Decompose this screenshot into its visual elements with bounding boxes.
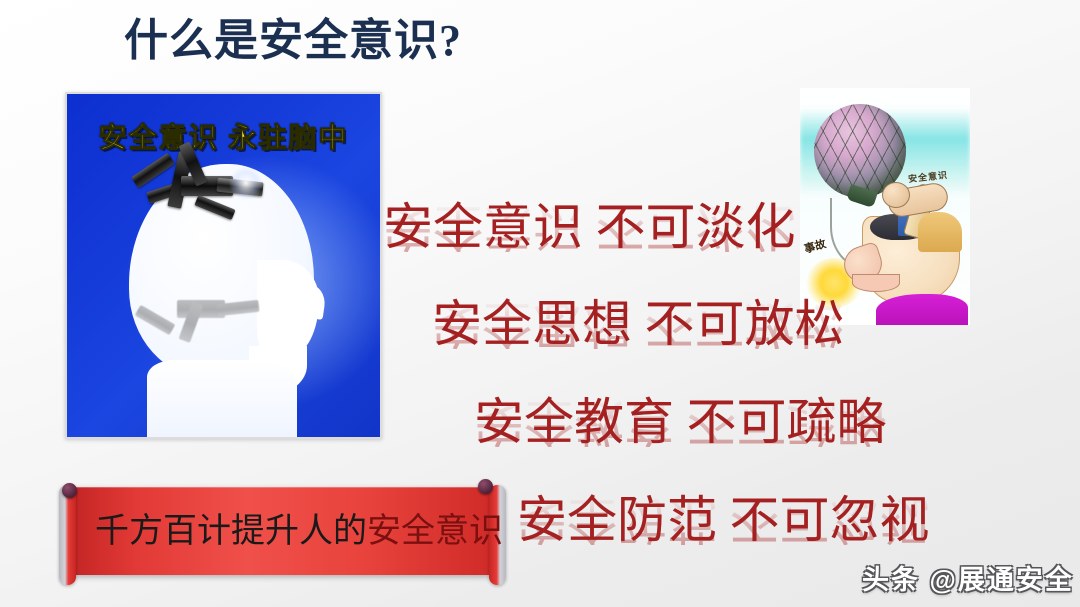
cartoon-shirt xyxy=(876,294,968,325)
slogan-line-2: 安全思想 不可放松 安全思想 不可放松 xyxy=(432,299,845,349)
slogan-line-4-text: 安全防范 不可忽视 xyxy=(517,492,930,548)
machinery-reflection xyxy=(125,258,265,344)
pushpin-icon-left xyxy=(62,483,77,498)
cartoon-hair xyxy=(918,212,962,252)
cartoon-fist xyxy=(882,182,910,208)
pushpin-icon-right xyxy=(478,479,493,494)
poster-image-safety-awareness: 安全意识 永驻脑中 xyxy=(65,92,382,439)
machinery-part xyxy=(131,153,175,188)
slogan-line-3-text: 安全教育 不可疏略 xyxy=(474,394,887,450)
banner-text-plain: 千方百计提升人的 xyxy=(95,513,367,550)
slogan-line-4: 安全防范 不可忽视 安全防范 不可忽视 xyxy=(517,495,930,545)
accident-label: 事故 xyxy=(802,235,828,256)
banner-text-accent: 安全意识 xyxy=(367,513,503,550)
machinery-part xyxy=(194,195,235,220)
red-banner: 千方百计提升人的安全意识 xyxy=(67,487,498,575)
slogan-line-1: 安全意识 不可淡化 安全意识 不可淡化 xyxy=(383,202,796,252)
slide-canvas: 什么是安全意识? 安全意识 永驻脑中 xyxy=(0,0,1080,607)
page-title: 什么是安全意识? xyxy=(124,16,462,65)
cartoon-image-awareness: 事故 安全意识 xyxy=(800,88,970,325)
cartoon-mouth xyxy=(852,274,900,292)
slogan-line-1-text: 安全意识 不可淡化 xyxy=(383,199,796,255)
neck-shape xyxy=(147,360,297,439)
banner-roll-left xyxy=(59,485,76,585)
spark-glow-icon xyxy=(229,166,263,200)
machinery-icon xyxy=(125,142,265,262)
banner-text: 千方百计提升人的安全意识 xyxy=(95,515,503,549)
slogan-line-2-text: 安全思想 不可放松 xyxy=(432,296,845,352)
machinery-reflection-part xyxy=(135,305,176,335)
watermark: 头条 @展通安全 xyxy=(862,558,1074,597)
nose-shape xyxy=(293,282,327,320)
slogan-line-3: 安全教育 不可疏略 安全教育 不可疏略 xyxy=(474,397,887,447)
